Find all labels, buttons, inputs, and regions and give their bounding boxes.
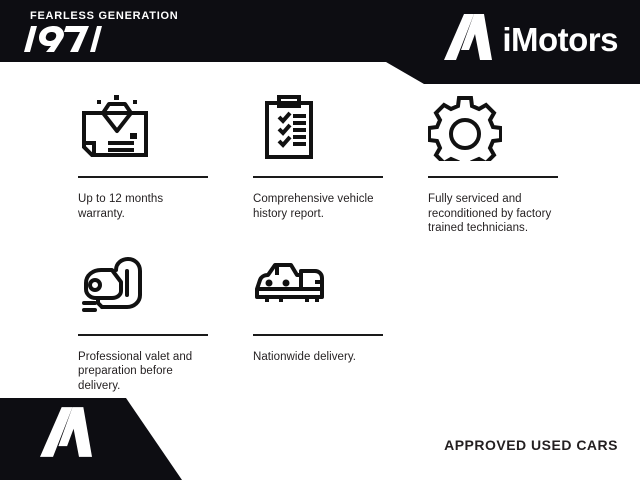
- feature-row-top: Up to 12 months warranty.: [0, 92, 640, 236]
- feature-spacer: [428, 250, 603, 394]
- footer-imotors-chevron-logo-icon: [40, 407, 92, 462]
- feature-text: Up to 12 months warranty.: [78, 192, 213, 221]
- warranty-certificate-diamond-icon: [78, 92, 213, 164]
- feature-text: Nationwide delivery.: [253, 350, 388, 365]
- feature-text: Fully serviced and reconditioned by fact…: [428, 192, 563, 236]
- feature-delivery: Nationwide delivery.: [253, 250, 428, 394]
- feature-divider: [78, 176, 208, 178]
- clipboard-checklist-icon: [253, 92, 388, 164]
- footer-tagline: APPROVED USED CARS: [444, 437, 618, 453]
- feature-divider: [253, 334, 383, 336]
- 1971-stylized-numerals-icon: [22, 24, 262, 59]
- imotors-brand-lockup: iMotors: [444, 14, 618, 65]
- feature-text: Comprehensive vehicle history report.: [253, 192, 388, 221]
- feature-text: Professional valet and preparation befor…: [78, 350, 213, 394]
- footer-shape: [0, 398, 200, 480]
- feature-divider: [78, 334, 208, 336]
- gear-icon: [428, 92, 563, 164]
- feature-warranty: Up to 12 months warranty.: [78, 92, 253, 236]
- feature-divider: [428, 176, 558, 178]
- feature-serviced: Fully serviced and reconditioned by fact…: [428, 92, 603, 236]
- feature-valet: Professional valet and preparation befor…: [78, 250, 253, 394]
- feature-divider: [253, 176, 383, 178]
- feature-grid: Up to 12 months warranty.: [0, 92, 640, 393]
- header-eyebrow: FEARLESS GENERATION: [30, 10, 262, 23]
- imotors-wordmark: iMotors: [502, 23, 618, 57]
- car-transporter-truck-icon: [253, 250, 388, 322]
- vacuum-cleaner-icon: [78, 250, 213, 322]
- imotors-chevron-logo-icon: [444, 14, 492, 65]
- fearless-generation-lockup: FEARLESS GENERATION: [22, 10, 262, 59]
- feature-row-bottom: Professional valet and preparation befor…: [0, 250, 640, 394]
- feature-history-report: Comprehensive vehicle history report.: [253, 92, 428, 236]
